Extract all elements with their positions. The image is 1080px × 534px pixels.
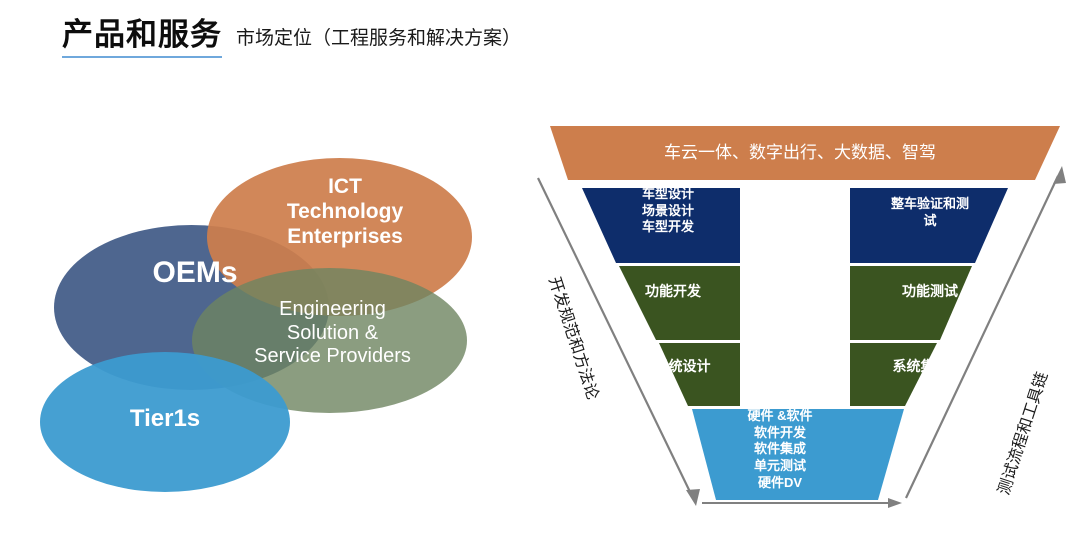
left-block-2 bbox=[619, 266, 740, 340]
venn-label-oems: OEMs bbox=[75, 255, 315, 290]
v-notch bbox=[742, 188, 848, 410]
market-positioning-venn: ICT Technology Enterprises OEMs Engineer… bbox=[40, 120, 520, 520]
left-block-1 bbox=[582, 188, 740, 263]
venn-label-tier1: Tier1s bbox=[50, 405, 280, 433]
title-underline bbox=[62, 56, 222, 58]
bottom-block bbox=[692, 409, 904, 500]
page-subtitle: 市场定位（工程服务和解决方案） bbox=[236, 29, 521, 58]
v-model-diagram: 车云一体、数字出行、大数据、智驾 车型设计 场景设计 车型开发 功能开发 系统设… bbox=[520, 118, 1080, 534]
slide-header: 产品和服务 市场定位（工程服务和解决方案） bbox=[62, 18, 521, 58]
slide-canvas: 产品和服务 市场定位（工程服务和解决方案） ICT Technology Ent… bbox=[0, 0, 1080, 534]
left-block-3 bbox=[659, 343, 740, 406]
page-title-wrap: 产品和服务 bbox=[62, 18, 222, 58]
venn-label-esp: Engineering Solution & Service Providers bbox=[200, 298, 465, 369]
page-title: 产品和服务 bbox=[62, 18, 222, 52]
banner-label: 车云一体、数字出行、大数据、智驾 bbox=[600, 138, 1000, 163]
venn-label-ict: ICT Technology Enterprises bbox=[220, 175, 470, 249]
right-block-2 bbox=[850, 266, 972, 340]
right-block-3 bbox=[850, 343, 937, 406]
right-block-1 bbox=[850, 188, 1008, 263]
